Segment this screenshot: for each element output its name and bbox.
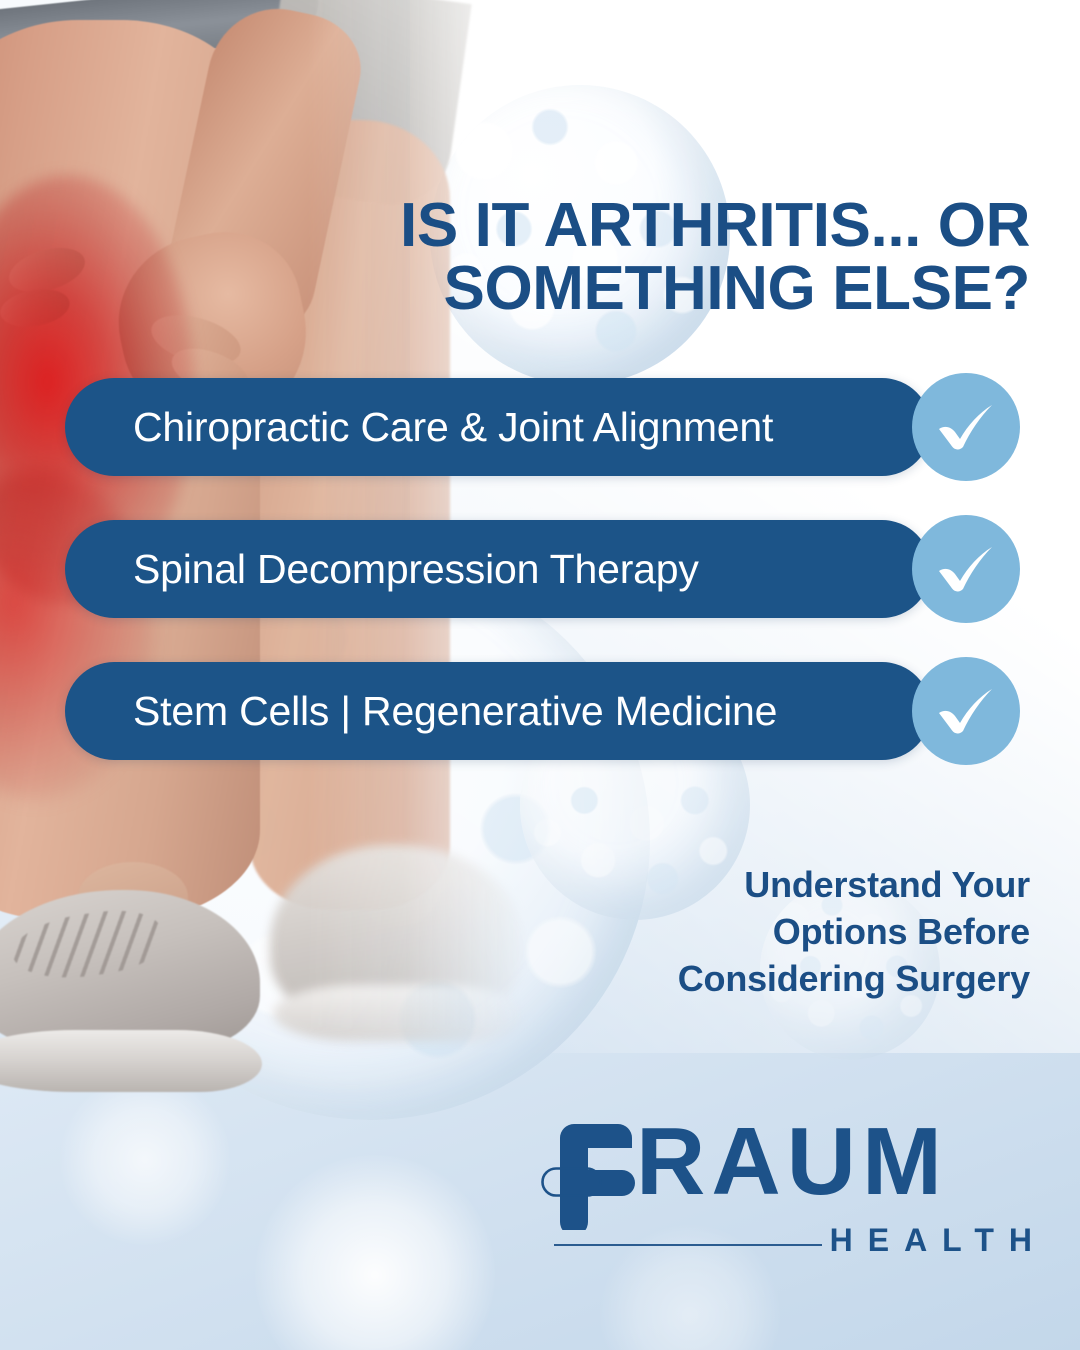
treatment-options-list: Chiropractic Care & Joint Alignment Spin… <box>65 378 1020 804</box>
logo-wordmark: RAUM <box>636 1114 948 1210</box>
option-label: Chiropractic Care & Joint Alignment <box>65 407 869 448</box>
option-pill[interactable]: Stem Cells | Regenerative Medicine <box>65 662 931 760</box>
running-shoe-back <box>270 845 530 1060</box>
tagline: Understand Your Options Before Consideri… <box>600 862 1030 1002</box>
option-pill[interactable]: Chiropractic Care & Joint Alignment <box>65 378 931 476</box>
check-icon <box>912 657 1020 765</box>
check-icon <box>912 373 1020 481</box>
logo-subtitle: HEALTH <box>830 1224 1047 1256</box>
tagline-line-3: Considering Surgery <box>600 956 1030 1003</box>
logo-divider <box>554 1244 822 1246</box>
option-label: Spinal Decompression Therapy <box>65 549 795 590</box>
running-shoe-front <box>0 880 270 1105</box>
check-icon <box>912 515 1020 623</box>
poster-canvas: IS IT ARTHRITIS... OR SOMETHING ELSE? Ch… <box>0 0 1080 1350</box>
headline-line-1: IS IT ARTHRITIS... OR <box>330 194 1030 257</box>
page-title: IS IT ARTHRITIS... OR SOMETHING ELSE? <box>330 194 1030 320</box>
option-pill[interactable]: Spinal Decompression Therapy <box>65 520 931 618</box>
list-item[interactable]: Chiropractic Care & Joint Alignment <box>65 378 1020 476</box>
brand-logo: RAUM HEALTH <box>540 1118 1032 1268</box>
tagline-line-2: Options Before <box>600 909 1030 956</box>
headline-line-2: SOMETHING ELSE? <box>330 257 1030 320</box>
tagline-line-1: Understand Your <box>600 862 1030 909</box>
list-item[interactable]: Spinal Decompression Therapy <box>65 520 1020 618</box>
list-item[interactable]: Stem Cells | Regenerative Medicine <box>65 662 1020 760</box>
option-label: Stem Cells | Regenerative Medicine <box>65 691 873 732</box>
fraum-f-cross-icon <box>540 1118 636 1230</box>
